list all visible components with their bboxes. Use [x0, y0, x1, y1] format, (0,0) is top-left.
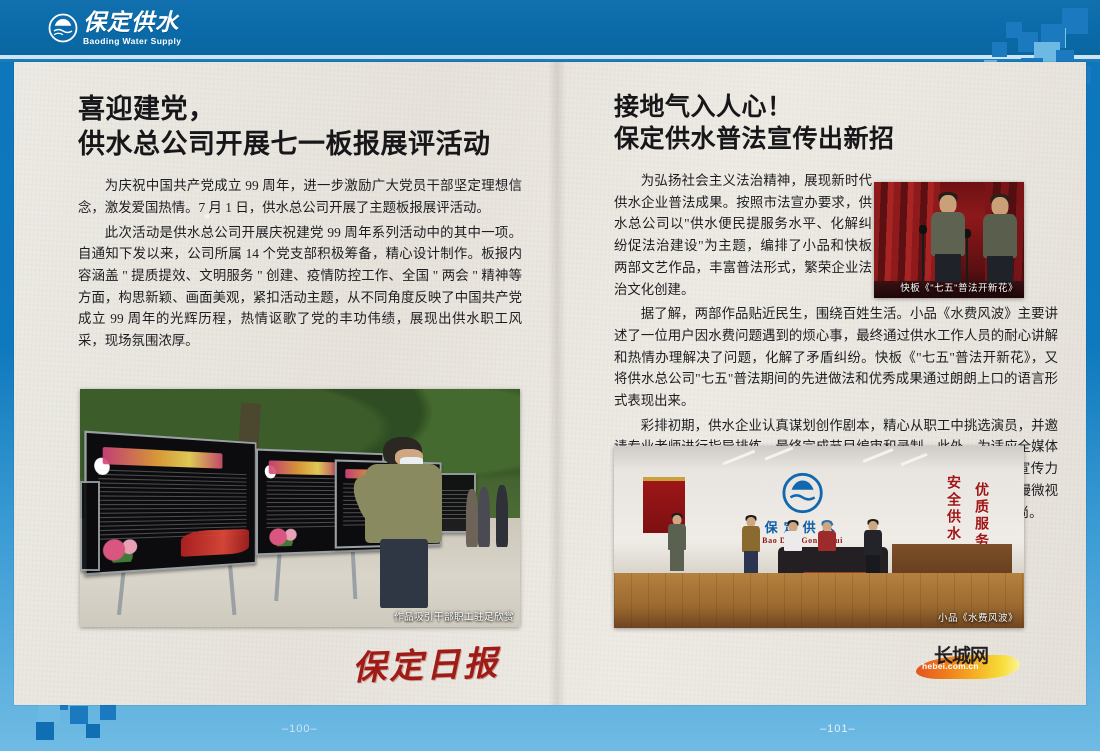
right-photo-top-caption: 快板《"七五"普法开新花》 — [900, 280, 1018, 294]
right-paragraph-1: 为弘扬社会主义法治精神，展现新时代供水企业普法成果。按照市法宣办要求，供水总公司… — [614, 170, 872, 300]
magazine-spread: 保定供水 Baoding Water Supply 喜迎建党， 供水总公司开展七… — [0, 0, 1100, 751]
left-title-line2: 供水总公司开展七一板报展评活动 — [78, 127, 522, 162]
photo-blackboard-exhibition: 作品吸引干部职工驻足欣赏 — [80, 389, 520, 627]
left-photo-caption: 作品吸引干部职工驻足欣赏 — [394, 609, 514, 623]
right-photo-bottom-caption: 小品《水费风波》 — [938, 610, 1018, 624]
source-stamp-baoding-daily: 保定日报 — [351, 635, 501, 689]
left-article-column: 喜迎建党， 供水总公司开展七一板报展评活动 为庆祝中国共产党成立 99 周年，进… — [78, 92, 522, 355]
actor-2 — [736, 517, 766, 575]
performer-right — [978, 197, 1022, 283]
brand-name-en: Baoding Water Supply — [83, 37, 181, 46]
page-gutter — [548, 62, 566, 705]
page-number-left: –100– — [282, 723, 318, 735]
performer-left — [926, 195, 970, 283]
brand-logo: 保定供水 Baoding Water Supply — [48, 11, 181, 46]
photo-person-viewer — [362, 437, 446, 608]
great-wall-net-url: hebei.com.cn — [922, 661, 979, 671]
photo-skit-performance: 保定供水 Bao Ding Gong Shui 安全供水 优质服务 小品《水费风… — [614, 446, 1024, 628]
left-paragraph-2: 此次活动是供水总公司开展庆祝建党 99 周年系列活动中的其中一项。自通知下发以来… — [78, 222, 522, 352]
right-title-line2: 保定供水普法宣传出新招 — [614, 124, 1058, 156]
actor-1 — [662, 515, 692, 573]
right-page-title: 接地气入人心！ 保定供水普法宣传出新招 — [614, 92, 1058, 156]
source-logo-great-wall-net: 长城网 hebei.com.cn — [916, 641, 1020, 681]
stage-banner-safe-supply: 安全供水 — [942, 475, 962, 543]
page-number-right: –101– — [820, 723, 856, 735]
actor-4 — [814, 522, 840, 566]
water-wave-logo-icon — [48, 13, 78, 43]
left-page-title: 喜迎建党， 供水总公司开展七一板报展评活动 — [78, 92, 522, 161]
water-wave-logo-icon — [781, 471, 825, 515]
actor-3 — [780, 522, 806, 566]
actor-5 — [860, 521, 886, 573]
right-title-line1: 接地气入人心！ — [614, 94, 793, 121]
left-title-line1: 喜迎建党， — [78, 94, 216, 124]
stage-banner-quality-service: 优质服务 — [970, 482, 990, 550]
right-paragraph-2: 据了解，两部作品贴近民生，围绕百姓生活。小品《水费风波》主要讲述了一位用户因水费… — [614, 303, 1058, 412]
brand-name-cn: 保定供水 — [83, 11, 181, 34]
photo-kuaiban-performance: 快板《"七五"普法开新花》 — [874, 182, 1024, 298]
left-paragraph-1: 为庆祝中国共产党成立 99 周年，进一步激励广大党员干部坚定理想信念，激发爱国热… — [78, 175, 522, 218]
